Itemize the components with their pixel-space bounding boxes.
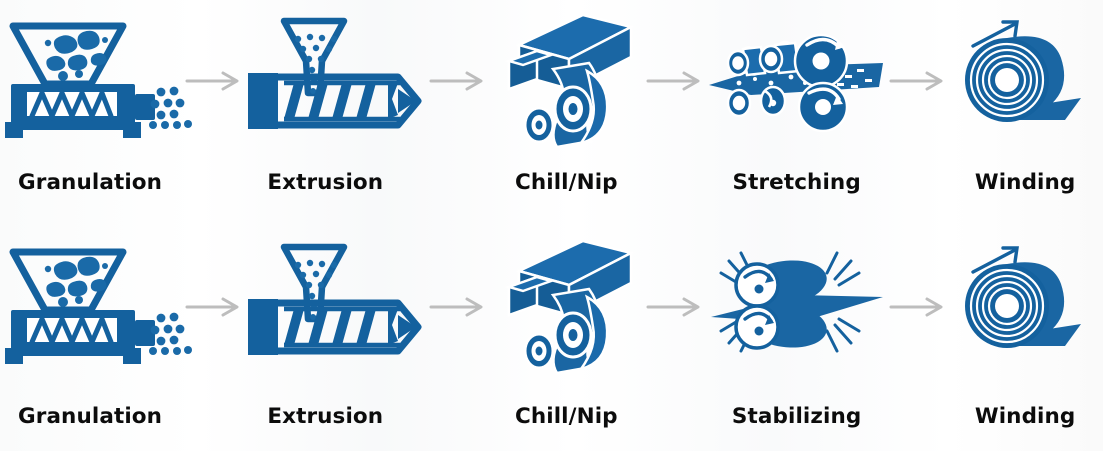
process-step-label: Extrusion <box>267 406 383 428</box>
arrow-right-icon <box>429 6 487 156</box>
process-step-label: Winding <box>975 406 1076 428</box>
arrow-right-icon <box>429 232 487 382</box>
process-step-label: Granulation <box>18 406 162 428</box>
process-step-stabilizing[interactable]: Stabilizing <box>704 226 889 451</box>
process-step-label: Extrusion <box>267 172 383 194</box>
process-step-label: Stabilizing <box>732 406 861 428</box>
process-step-label: Chill/Nip <box>515 406 618 428</box>
arrow-right-icon <box>185 232 243 382</box>
process-step-chill-nip[interactable]: Chill/Nip <box>487 226 646 451</box>
arrow-right-icon <box>646 6 704 156</box>
process-step-granulation[interactable]: Granulation <box>0 0 185 225</box>
extruder-screw-icon <box>243 226 428 376</box>
process-step-winding[interactable]: Winding <box>947 226 1103 451</box>
process-step-winding[interactable]: Winding <box>947 0 1103 225</box>
process-step-chill-nip[interactable]: Chill/Nip <box>487 0 646 225</box>
process-step-label: Chill/Nip <box>515 172 618 194</box>
stretching-rollers-icon <box>704 0 889 150</box>
arrow-right-icon <box>185 6 243 156</box>
extruder-screw-icon <box>243 0 428 150</box>
process-step-label: Granulation <box>18 172 162 194</box>
process-step-label: Stretching <box>732 172 860 194</box>
process-step-extrusion[interactable]: Extrusion <box>243 226 428 451</box>
granulator-icon <box>0 226 185 376</box>
process-step-granulation[interactable]: Granulation <box>0 226 185 451</box>
arrow-right-icon <box>889 6 947 156</box>
process-row-stabilized-film-line: Granulation <box>0 226 1103 451</box>
process-step-stretching[interactable]: Stretching <box>704 0 889 225</box>
granulator-icon <box>0 0 185 150</box>
process-step-extrusion[interactable]: Extrusion <box>243 0 428 225</box>
winding-roll-icon <box>947 0 1103 150</box>
arrow-right-icon <box>646 232 704 382</box>
process-row-cast-film-line: Granulation <box>0 0 1103 225</box>
process-step-label: Winding <box>975 172 1076 194</box>
arrow-right-icon <box>889 232 947 382</box>
stabilizing-rollers-icon <box>704 226 889 376</box>
chill-nip-roller-icon <box>487 226 646 376</box>
chill-nip-roller-icon <box>487 0 646 150</box>
winding-roll-icon <box>947 226 1103 376</box>
